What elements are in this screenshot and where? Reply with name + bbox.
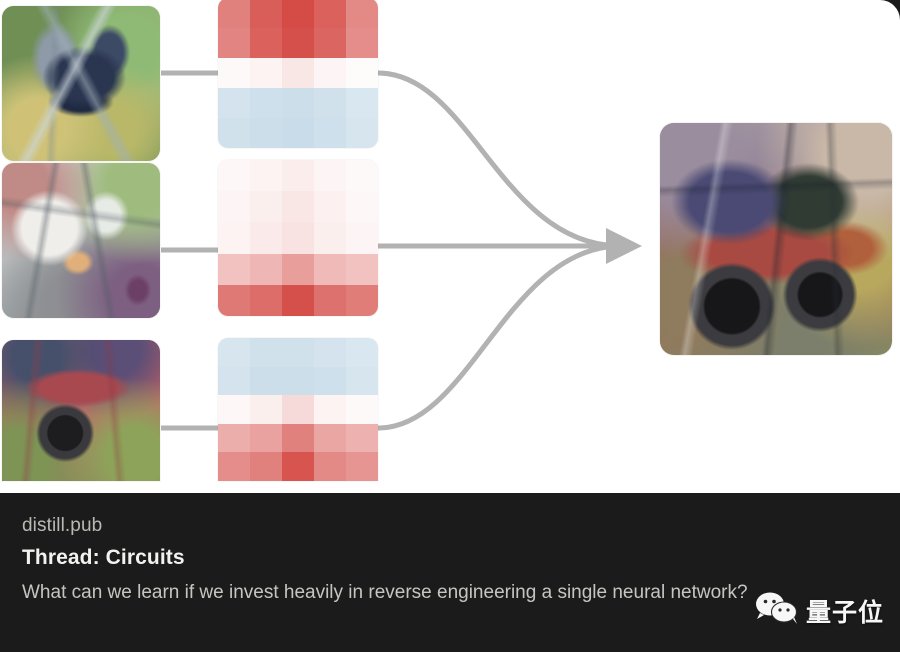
heatmap-cell bbox=[282, 338, 314, 367]
heatmap-cell bbox=[218, 222, 250, 253]
heatmap-cell bbox=[250, 254, 282, 285]
heatmap-cell bbox=[346, 367, 378, 396]
heatmap-cell bbox=[314, 28, 346, 58]
heatmap-cell bbox=[250, 88, 282, 118]
heatmap-cell bbox=[250, 452, 282, 481]
heatmap-cell bbox=[282, 28, 314, 58]
heatmap-cell bbox=[314, 222, 346, 253]
feature-2-edge-layer bbox=[2, 163, 160, 318]
heatmap-cell bbox=[314, 285, 346, 316]
heatmap-cell bbox=[314, 191, 346, 222]
feature-thumbnail-2 bbox=[2, 163, 160, 318]
heatmap-cell bbox=[346, 191, 378, 222]
heatmap-cell bbox=[282, 452, 314, 481]
heatmap-cell bbox=[218, 58, 250, 88]
heatmap-cell bbox=[314, 338, 346, 367]
heatmap-cell bbox=[250, 338, 282, 367]
heatmap-cell bbox=[346, 0, 378, 28]
heatmap-cell bbox=[250, 222, 282, 253]
heatmap-cell bbox=[282, 160, 314, 191]
heatmap-cell bbox=[346, 160, 378, 191]
heatmap-cell bbox=[314, 254, 346, 285]
heatmap-cell bbox=[218, 160, 250, 191]
heatmap-cell bbox=[314, 160, 346, 191]
heatmap-cell bbox=[346, 254, 378, 285]
heatmap-cell bbox=[250, 424, 282, 453]
heatmap-cell bbox=[250, 367, 282, 396]
heatmap-cell bbox=[250, 58, 282, 88]
heatmap-cell bbox=[218, 424, 250, 453]
heatmap-cell bbox=[250, 118, 282, 148]
screenshot-root: distill.pub Thread: Circuits What can we… bbox=[0, 0, 900, 652]
link-description: What can we learn if we invest heavily i… bbox=[22, 576, 852, 609]
feature-thumbnail-1 bbox=[2, 6, 160, 161]
heatmap-cell bbox=[218, 28, 250, 58]
heatmap-cell bbox=[314, 0, 346, 28]
feature-thumbnail-3 bbox=[2, 340, 160, 481]
heatmap-cell bbox=[250, 160, 282, 191]
weight-heatmap-2 bbox=[218, 160, 378, 316]
heatmap-cell bbox=[282, 285, 314, 316]
heatmap-cell bbox=[250, 191, 282, 222]
heatmap-cell bbox=[250, 28, 282, 58]
heatmap-cell bbox=[314, 118, 346, 148]
heatmap-cell bbox=[282, 395, 314, 424]
wechat-logo-icon bbox=[755, 591, 799, 630]
heatmap-cell bbox=[346, 222, 378, 253]
heatmap-cell bbox=[346, 28, 378, 58]
circuits-diagram bbox=[0, 0, 900, 493]
heatmap-cell bbox=[218, 88, 250, 118]
heatmap-cell bbox=[218, 285, 250, 316]
heatmap-cell bbox=[282, 58, 314, 88]
heatmap-cell bbox=[282, 254, 314, 285]
heatmap-cell bbox=[218, 254, 250, 285]
heatmap-cell bbox=[314, 452, 346, 481]
heatmap-cell bbox=[218, 118, 250, 148]
heatmap-cell bbox=[250, 0, 282, 28]
feature-3-edge-layer bbox=[2, 340, 160, 481]
heatmap-cell bbox=[218, 338, 250, 367]
heatmap-cell bbox=[282, 118, 314, 148]
heatmap-cell bbox=[282, 424, 314, 453]
heatmap-cell bbox=[346, 285, 378, 316]
heatmap-cell bbox=[218, 367, 250, 396]
heatmap-cell bbox=[346, 395, 378, 424]
heatmap-cell bbox=[282, 222, 314, 253]
watermark: 量子位 bbox=[755, 591, 884, 630]
heatmap-cell bbox=[218, 0, 250, 28]
heatmap-cell bbox=[218, 452, 250, 481]
feature-1-edge-layer bbox=[2, 6, 160, 161]
heatmap-cell bbox=[314, 395, 346, 424]
heatmap-cell bbox=[346, 338, 378, 367]
weight-heatmap-1 bbox=[218, 0, 378, 148]
heatmap-cell bbox=[346, 88, 378, 118]
heatmap-cell bbox=[314, 88, 346, 118]
heatmap-cell bbox=[346, 118, 378, 148]
weight-heatmap-3 bbox=[218, 338, 378, 481]
heatmap-cell bbox=[250, 395, 282, 424]
heatmap-cell bbox=[314, 58, 346, 88]
heatmap-cell bbox=[250, 285, 282, 316]
heatmap-cell bbox=[282, 0, 314, 28]
heatmap-cell bbox=[282, 88, 314, 118]
output-feature-thumbnail bbox=[660, 123, 892, 355]
heatmap-cell bbox=[282, 367, 314, 396]
watermark-text: 量子位 bbox=[806, 593, 884, 629]
link-title: Thread: Circuits bbox=[22, 543, 878, 573]
link-domain: distill.pub bbox=[22, 513, 878, 539]
heatmap-cell bbox=[218, 395, 250, 424]
heatmap-cell bbox=[314, 367, 346, 396]
heatmap-cell bbox=[346, 424, 378, 453]
link-preview-image[interactable] bbox=[0, 0, 900, 493]
heatmap-cell bbox=[282, 191, 314, 222]
heatmap-cell bbox=[314, 424, 346, 453]
output-edge-layer bbox=[660, 123, 892, 355]
heatmap-cell bbox=[346, 452, 378, 481]
heatmap-cell bbox=[218, 191, 250, 222]
heatmap-cell bbox=[346, 58, 378, 88]
